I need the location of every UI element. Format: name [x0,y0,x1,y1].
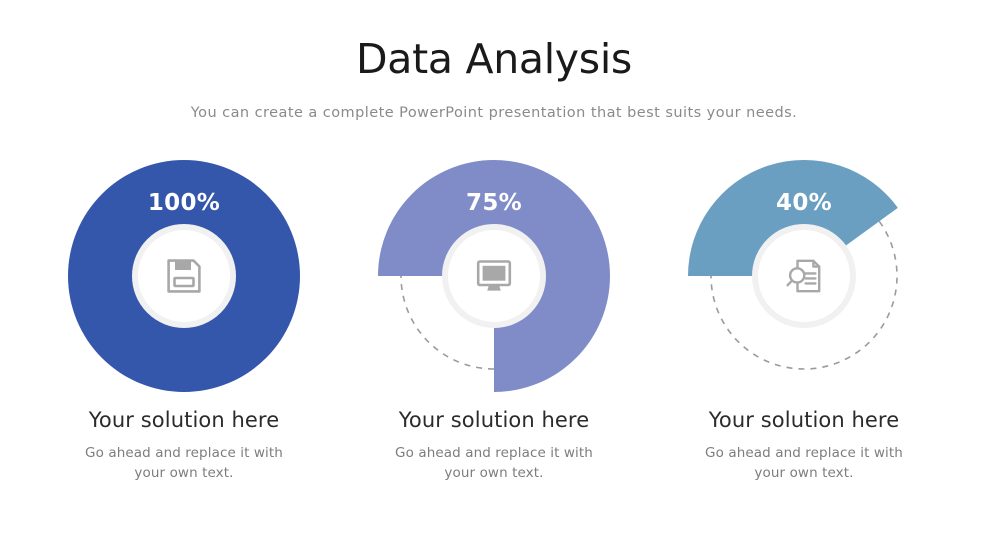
donut-chart-1[interactable]: 100% [68,160,300,392]
document-search-icon [784,256,824,296]
page-title: Data Analysis [0,36,988,83]
chart-column-1: 100% Your solution here Go ahead and rep… [29,160,339,483]
icon-hub-3 [752,224,856,328]
caption-body-1: Go ahead and replace it with your own te… [69,444,299,483]
caption-title-3: Your solution here [709,408,899,432]
desktop-monitor-icon [474,256,514,296]
donut-chart-3[interactable]: 40% [688,160,920,392]
caption-title-2: Your solution here [399,408,589,432]
caption-title-1: Your solution here [89,408,279,432]
chart-column-3: 40% Y [649,160,959,483]
floppy-disk-save-icon [164,256,204,296]
caption-body-3: Go ahead and replace it with your own te… [689,444,919,483]
caption-body-2: Go ahead and replace it with your own te… [379,444,609,483]
chart-column-2: 75% Your solution here Go ahead and repl… [339,160,649,483]
icon-hub-1 [132,224,236,328]
chart-columns: 100% Your solution here Go ahead and rep… [0,160,988,483]
slide-data-analysis: Data Analysis You can create a complete … [0,0,988,556]
page-subtitle: You can create a complete PowerPoint pre… [0,105,988,121]
icon-hub-2 [442,224,546,328]
donut-chart-2[interactable]: 75% [378,160,610,392]
